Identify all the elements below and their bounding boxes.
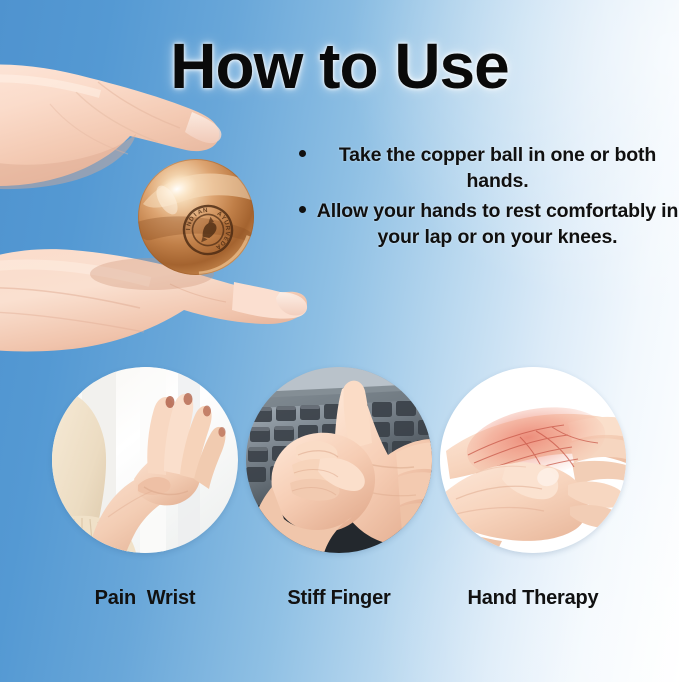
copper-ball: I N D I A N A Y U R V E D <box>137 158 255 276</box>
caption-hand-therapy: Hand Therapy <box>428 585 638 611</box>
hand-therapy-photo <box>440 367 626 553</box>
how-to-use-infographic: I N D I A N A Y U R V E D <box>0 0 679 682</box>
bullet-dot-icon <box>299 150 306 157</box>
bullet-dot-icon <box>299 206 306 213</box>
list-item: Allow your hands to rest comfortably in … <box>290 198 679 250</box>
pain-wrist-photo <box>52 367 238 553</box>
caption-stiff-finger: Stiff Finger <box>234 585 444 611</box>
use-case-images <box>0 367 679 557</box>
use-case-captions: Pain Wrist Stiff Finger Hand Therapy <box>0 585 679 615</box>
instruction-text: Allow your hands to rest comfortably in … <box>316 198 679 250</box>
stiff-finger-photo <box>246 367 432 553</box>
instruction-text: Take the copper ball in one or both hand… <box>316 142 679 194</box>
caption-pain-wrist: Pain Wrist <box>40 585 250 611</box>
instruction-list: Take the copper ball in one or both hand… <box>290 142 679 254</box>
list-item: Take the copper ball in one or both hand… <box>290 142 679 194</box>
page-title: How to Use <box>0 34 679 98</box>
